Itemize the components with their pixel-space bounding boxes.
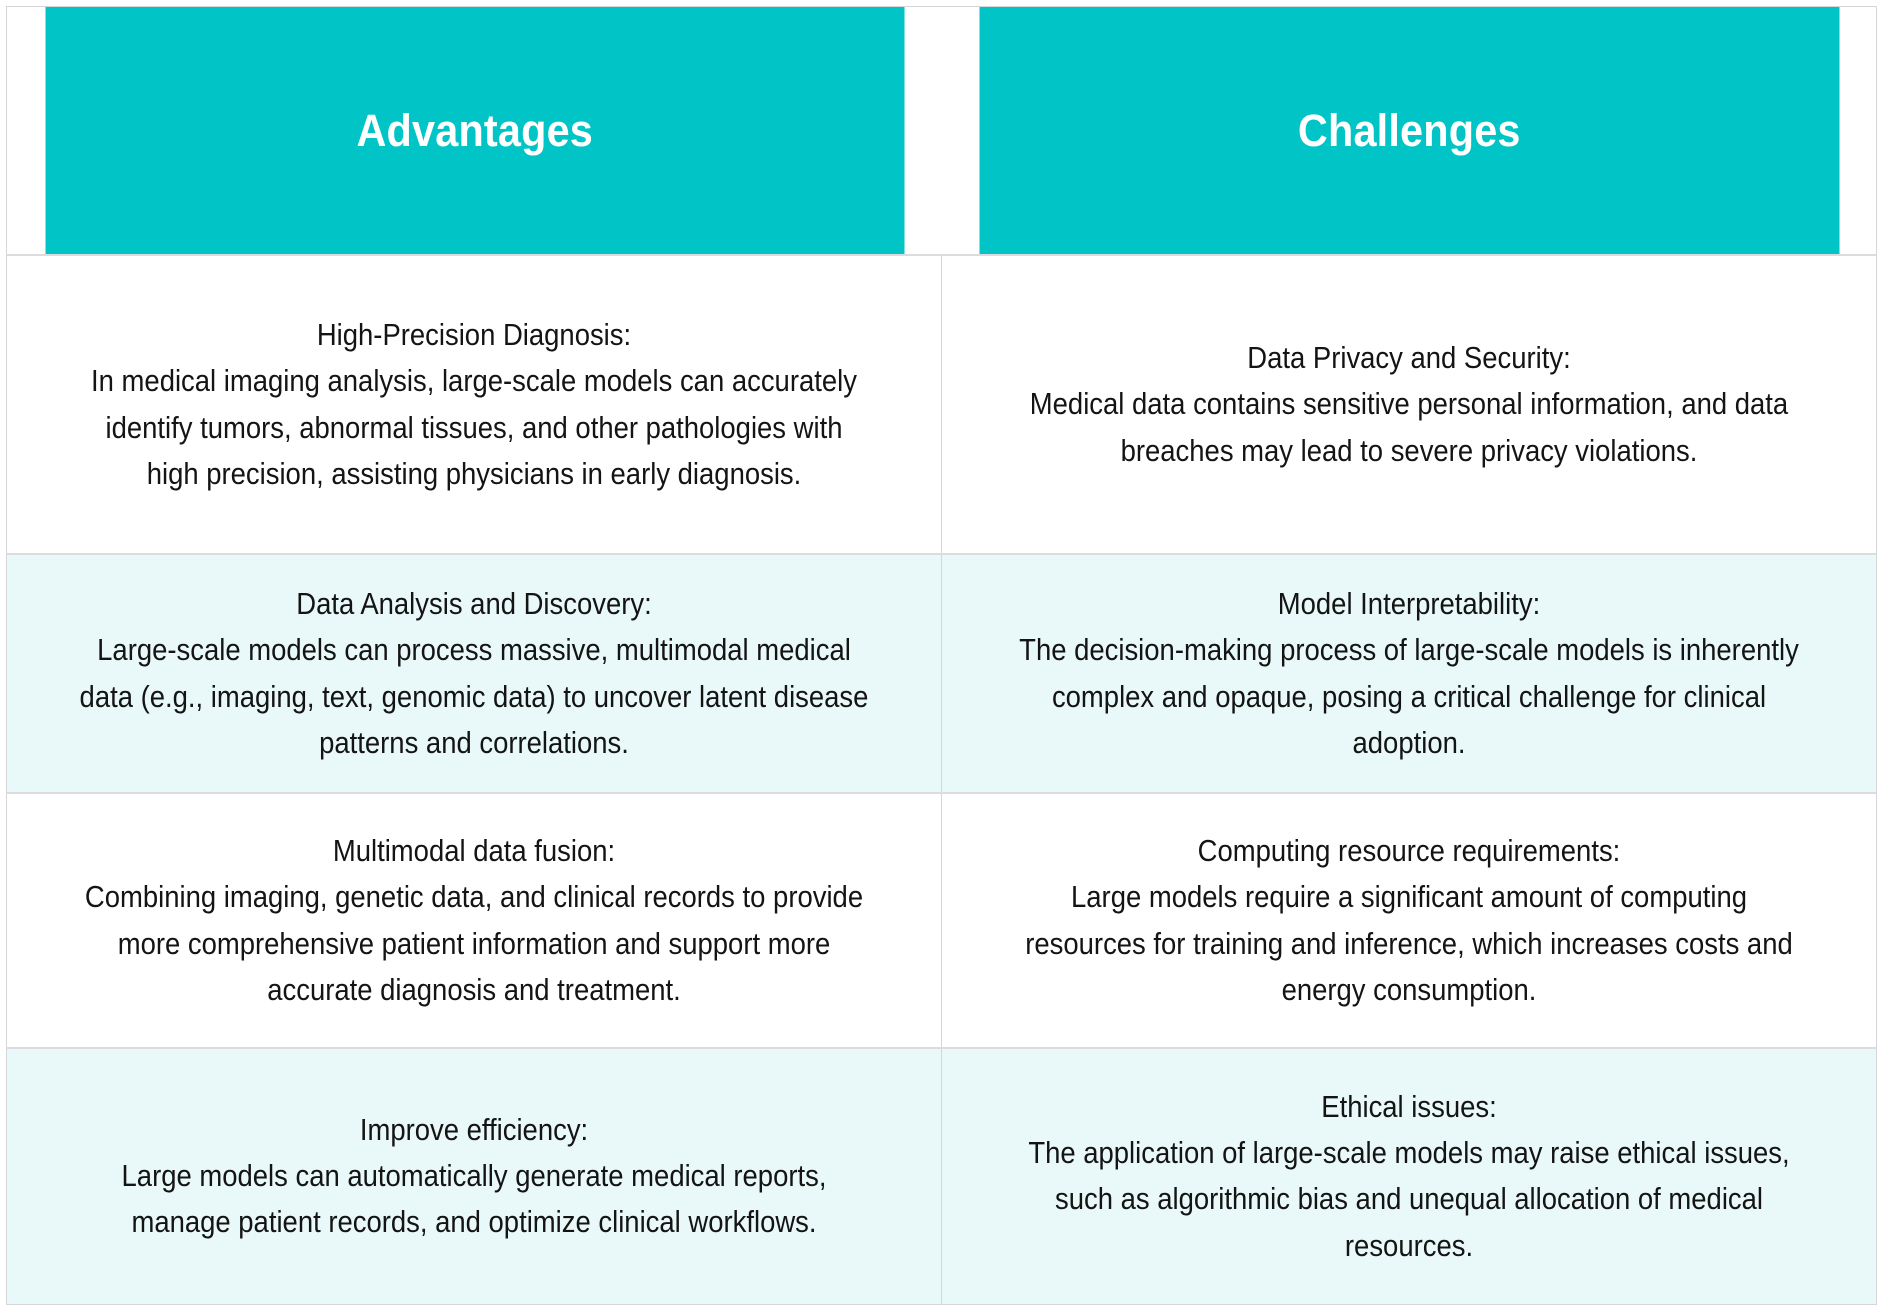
cell-challenges-1-text: Data Privacy and Security: Medical data … xyxy=(1014,335,1804,474)
cell-challenges-3: Computing resource requirements: Large m… xyxy=(942,793,1877,1048)
table-header: Advantages Challenges xyxy=(7,7,1877,256)
cell-challenges-1: Data Privacy and Security: Medical data … xyxy=(942,255,1877,554)
column-header-advantages-label: Advantages xyxy=(356,105,593,157)
table-row: Improve efficiency: Large models can aut… xyxy=(7,1048,1877,1304)
column-header-challenges: Challenges xyxy=(979,7,1839,256)
cell-advantages-4: Improve efficiency: Large models can aut… xyxy=(7,1048,942,1304)
cell-advantages-2-text: Data Analysis and Discovery: Large-scale… xyxy=(79,581,869,766)
header-row: Advantages Challenges xyxy=(7,7,1877,256)
table-row: Multimodal data fusion: Combining imagin… xyxy=(7,793,1877,1048)
table-row: Data Analysis and Discovery: Large-scale… xyxy=(7,554,1877,793)
column-header-challenges-label: Challenges xyxy=(1297,105,1520,157)
cell-challenges-4: Ethical issues: The application of large… xyxy=(942,1048,1877,1304)
table-body: High-Precision Diagnosis: In medical ima… xyxy=(7,255,1877,1304)
cell-advantages-1-text: High-Precision Diagnosis: In medical ima… xyxy=(79,312,869,497)
cell-advantages-1: High-Precision Diagnosis: In medical ima… xyxy=(7,255,942,554)
cell-challenges-2: Model Interpretability: The decision-mak… xyxy=(942,554,1877,793)
table-row: High-Precision Diagnosis: In medical ima… xyxy=(7,255,1877,554)
cell-challenges-3-text: Computing resource requirements: Large m… xyxy=(1014,828,1804,1013)
advantages-challenges-table: Advantages Challenges High-Precision Dia… xyxy=(6,6,1877,1305)
cell-advantages-4-text: Improve efficiency: Large models can aut… xyxy=(79,1107,869,1246)
column-header-advantages: Advantages xyxy=(44,7,904,256)
table-container: Advantages Challenges High-Precision Dia… xyxy=(0,0,1883,1309)
cell-challenges-4-text: Ethical issues: The application of large… xyxy=(1014,1084,1804,1269)
cell-challenges-2-text: Model Interpretability: The decision-mak… xyxy=(1014,581,1804,766)
cell-advantages-3-text: Multimodal data fusion: Combining imagin… xyxy=(79,828,869,1013)
cell-advantages-2: Data Analysis and Discovery: Large-scale… xyxy=(7,554,942,793)
cell-advantages-3: Multimodal data fusion: Combining imagin… xyxy=(7,793,942,1048)
